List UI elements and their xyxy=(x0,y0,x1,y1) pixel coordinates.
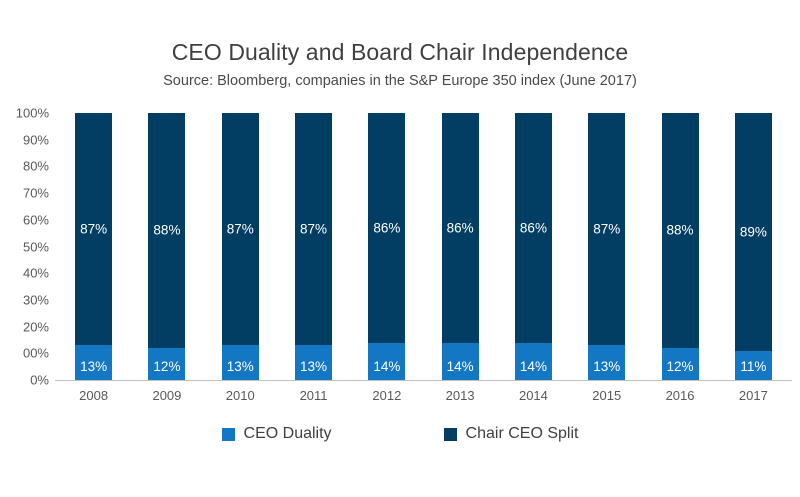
x-axis-tick-label: 2016 xyxy=(645,388,716,403)
bar-group[interactable]: 89%11% xyxy=(735,113,772,380)
x-axis-tick-label: 2011 xyxy=(278,388,349,403)
bar-segment-chair-ceo-split[interactable]: 88% xyxy=(662,113,699,348)
y-axis-tick-label: 0% xyxy=(0,373,49,388)
bar-group[interactable]: 87%13% xyxy=(75,113,112,380)
y-axis-tick-label: 60% xyxy=(0,212,49,227)
x-axis-tick-label: 2013 xyxy=(425,388,496,403)
legend-label-chair-ceo-split: Chair CEO Split xyxy=(466,425,579,443)
bar-value-label: 13% xyxy=(222,360,259,374)
bar-value-label: 88% xyxy=(148,224,185,238)
chart-title: CEO Duality and Board Chair Independence xyxy=(0,38,800,66)
plot-area: 87%13%88%12%87%13%87%13%86%14%86%14%86%1… xyxy=(57,113,790,380)
bar-segment-ceo-duality[interactable]: 12% xyxy=(662,348,699,380)
bar-segment-ceo-duality[interactable]: 14% xyxy=(515,343,552,380)
bar-segment-ceo-duality[interactable]: 13% xyxy=(222,345,259,380)
x-axis-tick-label: 2015 xyxy=(571,388,642,403)
bar-segment-ceo-duality[interactable]: 12% xyxy=(148,348,185,380)
bar-value-label: 87% xyxy=(295,222,332,236)
y-axis-tick-label: 50% xyxy=(0,239,49,254)
legend-swatch-chair-ceo-split xyxy=(444,428,457,441)
bar-value-label: 13% xyxy=(75,360,112,374)
chart-container: CEO Duality and Board Chair Independence… xyxy=(0,0,800,497)
y-axis-tick-label: 30% xyxy=(0,292,49,307)
chart-subtitle: Source: Bloomberg, companies in the S&P … xyxy=(0,71,800,91)
bar-value-label: 12% xyxy=(662,360,699,374)
y-axis-tick-label: 20% xyxy=(0,319,49,334)
y-axis-tick-label: 80% xyxy=(0,159,49,174)
x-axis: 2008200920102011201220132014201520162017 xyxy=(57,388,790,410)
chart-legend: CEO Duality Chair CEO Split xyxy=(0,425,800,443)
x-axis-line xyxy=(55,380,792,381)
bar-segment-chair-ceo-split[interactable]: 89% xyxy=(735,113,772,351)
bar-segment-chair-ceo-split[interactable]: 86% xyxy=(515,113,552,343)
legend-swatch-ceo-duality xyxy=(222,428,235,441)
y-axis-tick-label: 100% xyxy=(0,106,49,121)
bar-value-label: 89% xyxy=(735,225,772,239)
x-axis-tick-label: 2008 xyxy=(58,388,129,403)
bar-group[interactable]: 87%13% xyxy=(295,113,332,380)
bar-group[interactable]: 87%13% xyxy=(588,113,625,380)
bar-segment-chair-ceo-split[interactable]: 87% xyxy=(295,113,332,345)
x-axis-tick-label: 2017 xyxy=(718,388,789,403)
bar-segment-ceo-duality[interactable]: 13% xyxy=(588,345,625,380)
bar-value-label: 14% xyxy=(442,360,479,374)
x-axis-tick-label: 2014 xyxy=(498,388,569,403)
bar-segment-chair-ceo-split[interactable]: 87% xyxy=(222,113,259,345)
bar-value-label: 88% xyxy=(662,224,699,238)
bar-value-label: 13% xyxy=(295,360,332,374)
bar-value-label: 13% xyxy=(588,360,625,374)
bar-group[interactable]: 86%14% xyxy=(442,113,479,380)
x-axis-tick-label: 2009 xyxy=(131,388,202,403)
legend-item-ceo-duality[interactable]: CEO Duality xyxy=(222,425,332,443)
bar-value-label: 12% xyxy=(148,360,185,374)
bar-segment-ceo-duality[interactable]: 13% xyxy=(75,345,112,380)
bar-value-label: 86% xyxy=(515,221,552,235)
bar-value-label: 87% xyxy=(75,222,112,236)
bar-value-label: 14% xyxy=(515,360,552,374)
x-axis-tick-label: 2012 xyxy=(351,388,422,403)
bar-group[interactable]: 86%14% xyxy=(368,113,405,380)
bar-value-label: 87% xyxy=(588,222,625,236)
legend-item-chair-ceo-split[interactable]: Chair CEO Split xyxy=(444,425,579,443)
bar-group[interactable]: 86%14% xyxy=(515,113,552,380)
bar-segment-ceo-duality[interactable]: 14% xyxy=(368,343,405,380)
bar-segment-chair-ceo-split[interactable]: 87% xyxy=(588,113,625,345)
bar-group[interactable]: 87%13% xyxy=(222,113,259,380)
bar-group[interactable]: 88%12% xyxy=(148,113,185,380)
bar-segment-ceo-duality[interactable]: 14% xyxy=(442,343,479,380)
bar-segment-chair-ceo-split[interactable]: 87% xyxy=(75,113,112,345)
bar-segment-chair-ceo-split[interactable]: 86% xyxy=(442,113,479,343)
y-axis-tick-label: 90% xyxy=(0,132,49,147)
bar-segment-ceo-duality[interactable]: 11% xyxy=(735,351,772,380)
y-axis-tick-label: 40% xyxy=(0,266,49,281)
x-axis-tick-label: 2010 xyxy=(205,388,276,403)
legend-label-ceo-duality: CEO Duality xyxy=(244,425,332,443)
bar-group[interactable]: 88%12% xyxy=(662,113,699,380)
bar-value-label: 86% xyxy=(368,221,405,235)
y-axis: 100%90%80%70%60%50%40%30%20%00%0% xyxy=(0,113,49,380)
bar-segment-chair-ceo-split[interactable]: 86% xyxy=(368,113,405,343)
chart-header: CEO Duality and Board Chair Independence… xyxy=(0,38,800,91)
bar-segment-ceo-duality[interactable]: 13% xyxy=(295,345,332,380)
bar-segment-chair-ceo-split[interactable]: 88% xyxy=(148,113,185,348)
bar-value-label: 87% xyxy=(222,222,259,236)
bar-value-label: 86% xyxy=(442,221,479,235)
y-axis-tick-label: 70% xyxy=(0,186,49,201)
bar-value-label: 14% xyxy=(368,360,405,374)
y-axis-tick-label: 00% xyxy=(0,346,49,361)
bar-value-label: 11% xyxy=(735,360,772,374)
